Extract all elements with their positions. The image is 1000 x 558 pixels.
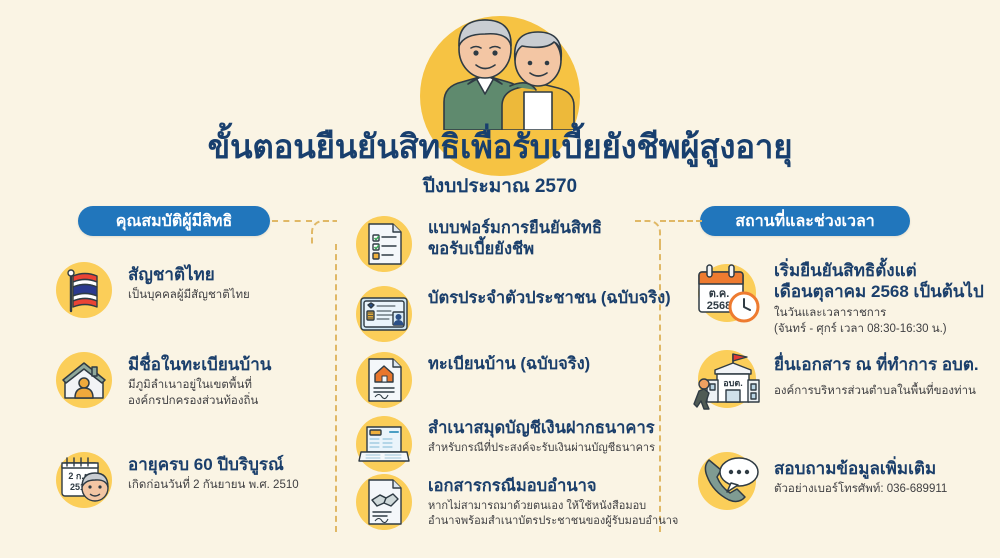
telephone-chat-icon — [690, 448, 766, 514]
item-title: อายุครบ 60 ปีบริบูรณ์ — [128, 454, 299, 475]
section-heading-qualifications: คุณสมบัติผู้มีสิทธิ — [78, 206, 270, 236]
list-item-age-60: 2 ก.ย. 2510 อายุครบ 60 ปีบริบูรณ์ เกิดก่… — [52, 448, 299, 512]
handshake-document-icon — [352, 470, 416, 534]
title-block: ขั้นตอนยืนยันสิทธิเพื่อรับเบี้ยยังชีพผู้… — [0, 128, 1000, 201]
item-desc: เกิดก่อนวันที่ 2 กันยายน พ.ศ. 2510 — [128, 477, 299, 493]
list-item-power-of-attorney: เอกสารกรณีมอบอำนาจ หากไม่สามารถมาด้วยตนเ… — [352, 470, 678, 534]
item-desc: ตัวอย่างเบอร์โทรศัพท์: 036-689911 — [774, 481, 947, 497]
page-subtitle: ปีงบประมาณ 2570 — [0, 171, 1000, 201]
bankbook-laptop-icon — [352, 412, 416, 476]
section-heading-place-time: สถานที่และช่วงเวลา — [700, 206, 910, 236]
item-desc-line2: องค์กรปกครองส่วนท้องถิ่น — [128, 393, 271, 409]
item-title: มีชื่อในทะเบียนบ้าน — [128, 354, 271, 375]
calendar-year-text: 2568 — [707, 300, 731, 312]
item-title: สัญชาติไทย — [128, 264, 250, 285]
item-title: ทะเบียนบ้าน (ฉบับจริง) — [428, 354, 590, 375]
list-item-bank-passbook: สำเนาสมุดบัญชีเงินฝากธนาคาร สำหรับกรณีที… — [352, 412, 655, 476]
list-item-contact-info: สอบถามข้อมูลเพิ่มเติม ตัวอย่างเบอร์โทรศั… — [690, 448, 947, 514]
house-resident-icon — [52, 348, 116, 412]
government-office-icon: อบต. — [690, 346, 766, 412]
house-document-icon — [352, 348, 416, 412]
item-title-line2: ขอรับเบี้ยยังชีพ — [428, 239, 602, 260]
thai-flag-icon — [52, 258, 116, 322]
item-desc-line2: อำนาจพร้อมสำเนาบัตรประชาชนของผู้รับมอบอำ… — [428, 514, 678, 529]
connector-left-corner — [311, 220, 337, 246]
id-card-icon — [352, 282, 416, 346]
item-title: แบบฟอร์มการยืนยันสิทธิ — [428, 218, 602, 239]
item-title: ยื่นเอกสาร ณ ที่ทำการ อบต. — [774, 354, 979, 375]
calendar-elder-icon: 2 ก.ย. 2510 — [52, 448, 116, 512]
divider-left-vertical — [335, 244, 337, 532]
page-title: ขั้นตอนยืนยันสิทธิเพื่อรับเบี้ยยังชีพผู้… — [0, 128, 1000, 166]
infographic-canvas: ขั้นตอนยืนยันสิทธิเพื่อรับเบี้ยยังชีพผู้… — [0, 0, 1000, 558]
connector-right-horizontal — [660, 220, 702, 222]
item-title: เอกสารกรณีมอบอำนาจ — [428, 476, 678, 497]
hero-illustration-area — [0, 0, 1000, 130]
list-item-house-registration-doc: ทะเบียนบ้าน (ฉบับจริง) — [352, 348, 590, 412]
elderly-couple-illustration — [424, 6, 576, 130]
item-title: เริ่มยืนยันสิทธิตั้งแต่ — [774, 260, 984, 281]
checklist-form-icon — [352, 212, 416, 276]
item-desc: หากไม่สามารถมาด้วยตนเอง ให้ใช้หนังสือมอบ — [428, 499, 678, 514]
item-desc-line2: (จันทร์ - ศุกร์ เวลา 08:30-16:30 น.) — [774, 321, 984, 337]
item-desc: มีภูมิลำเนาอยู่ในเขตพื้นที่ — [128, 377, 271, 393]
connector-left-horizontal — [272, 220, 312, 222]
list-item-thai-nationality: สัญชาติไทย เป็นบุคคลผู้มีสัญชาติไทย — [52, 258, 250, 322]
list-item-id-card: บัตรประจำตัวประชาชน (ฉบับจริง) — [352, 282, 671, 346]
item-title-line2: เดือนตุลาคม 2568 เป็นต้นไป — [774, 281, 984, 302]
item-title: สอบถามข้อมูลเพิ่มเติม — [774, 458, 947, 479]
calendar-clock-icon: ต.ค. 2568 — [690, 258, 766, 328]
building-label-text: อบต. — [723, 378, 742, 388]
item-title: สำเนาสมุดบัญชีเงินฝากธนาคาร — [428, 418, 655, 439]
item-desc: ในวันและเวลาราชการ — [774, 305, 984, 321]
list-item-start-period: ต.ค. 2568 เริ่มยืนยันสิทธิตั้งแต่ เดือนต… — [690, 258, 984, 337]
list-item-house-registration: มีชื่อในทะเบียนบ้าน มีภูมิลำเนาอยู่ในเขต… — [52, 348, 271, 412]
item-desc: องค์การบริหารส่วนตำบลในพื้นที่ของท่าน — [774, 383, 979, 399]
item-title: บัตรประจำตัวประชาชน (ฉบับจริง) — [428, 288, 671, 309]
calendar-month-text: ต.ค. — [709, 288, 730, 300]
list-item-submit-office: อบต. ยื่นเอกสาร ณ ที่ทำการ อบต. องค์การบ… — [690, 346, 979, 412]
list-item-claim-form: แบบฟอร์มการยืนยันสิทธิ ขอรับเบี้ยยังชีพ — [352, 212, 602, 276]
connector-right-corner — [635, 220, 661, 246]
item-desc: เป็นบุคคลผู้มีสัญชาติไทย — [128, 287, 250, 303]
item-desc: สำหรับกรณีที่ประสงค์จะรับเงินผ่านบัญชีธน… — [428, 441, 655, 456]
